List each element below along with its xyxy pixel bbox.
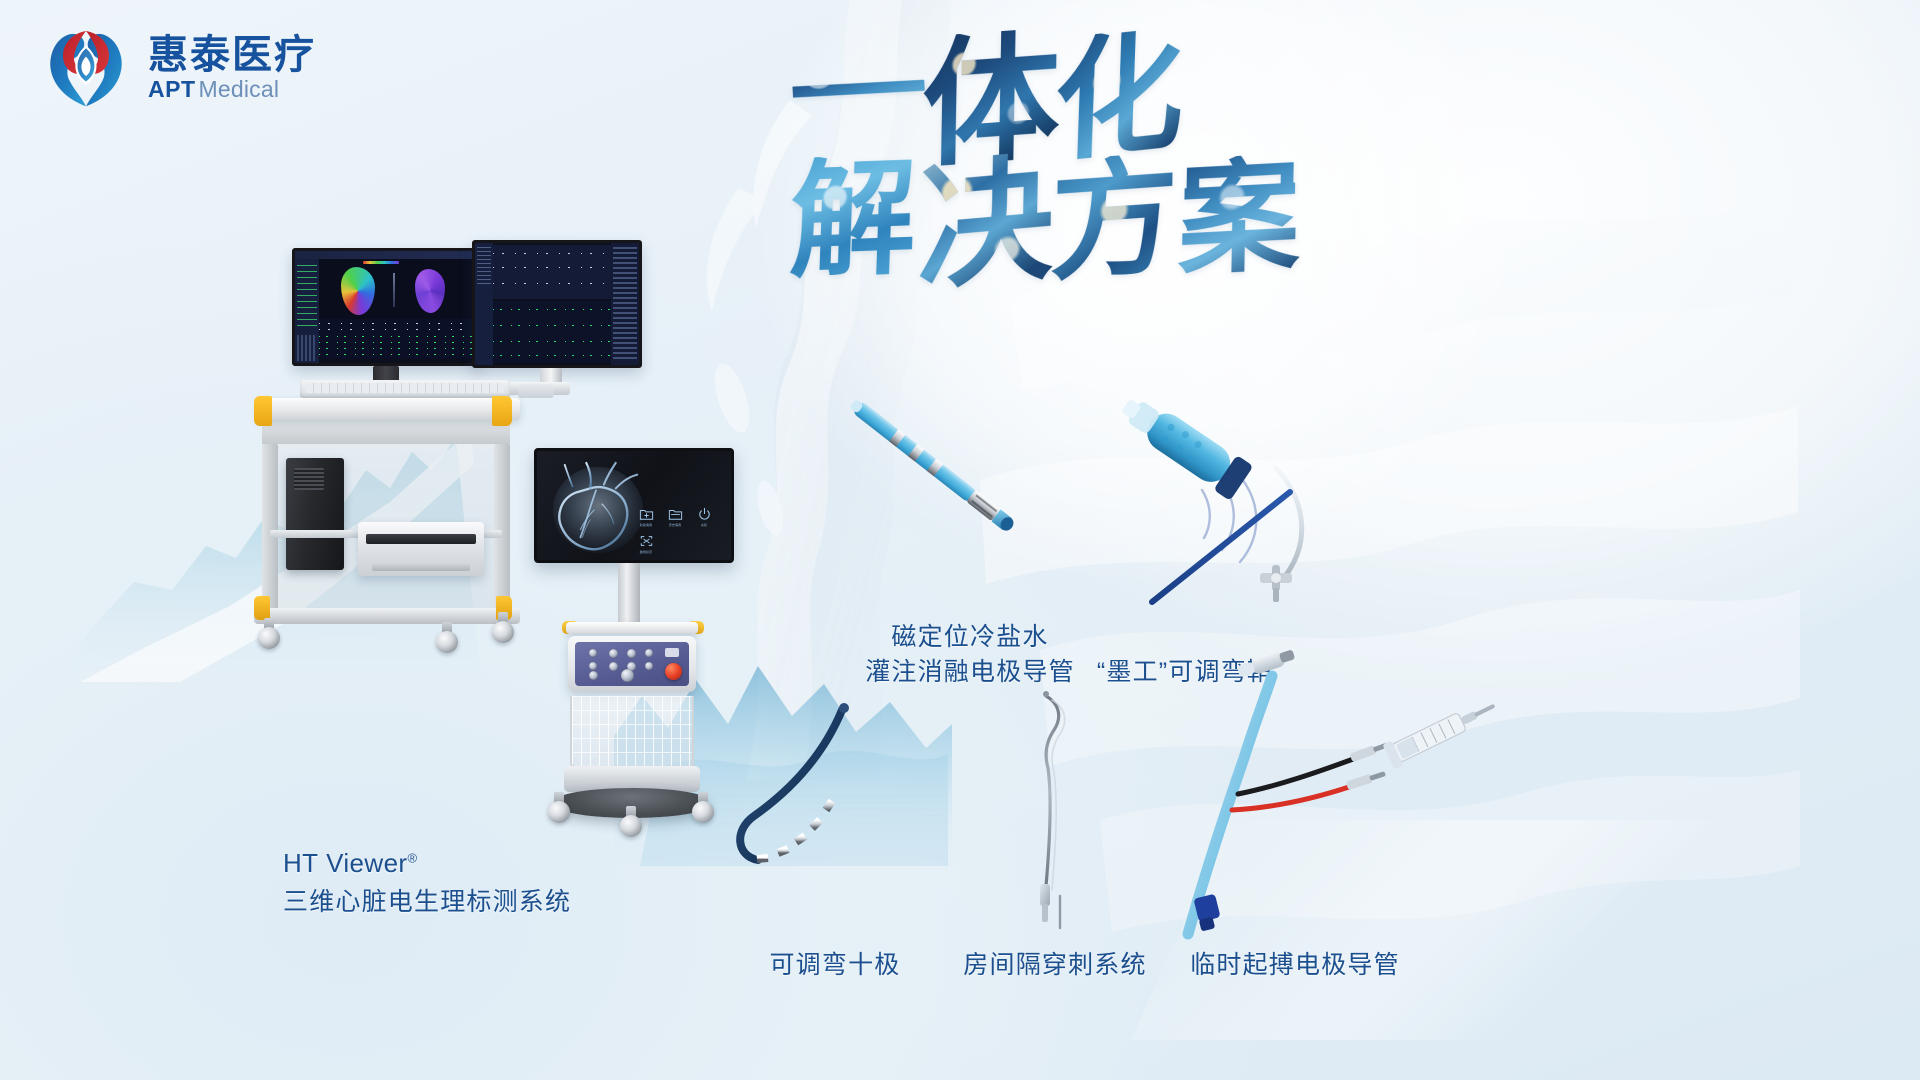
- display-cart-icon-row: 新建病例 历史病例 关机: [637, 507, 715, 554]
- pc-tower: [286, 458, 344, 570]
- irrigated-ablation-catheter-art: [820, 360, 1080, 610]
- calibration-caption: 磁场标定: [640, 550, 652, 554]
- headline-glyph-fang: 方: [1049, 151, 1179, 296]
- brand-name-en: APT Medical: [148, 78, 316, 101]
- display-cart-column: [618, 563, 640, 623]
- mapping-left-bars: [297, 335, 317, 361]
- headline-glyph-an: 案: [1177, 153, 1301, 296]
- cart1-column: [262, 420, 510, 444]
- new-case-glyph: [639, 507, 654, 521]
- display-cart-tray: [566, 622, 698, 634]
- panel-indicator: [665, 648, 679, 657]
- caster-wheel: [258, 618, 280, 648]
- caster-wheel: [548, 792, 570, 822]
- case-folder-caption: 历史病例: [669, 523, 681, 527]
- mapping-monitor: [292, 248, 482, 366]
- storage-basket: [570, 696, 694, 768]
- ecg-lower-traces: [493, 301, 611, 363]
- connector-port[interactable]: [645, 649, 653, 657]
- control-panel: [568, 636, 696, 692]
- connector-port[interactable]: [645, 662, 653, 670]
- mapping-left-traces: [297, 265, 317, 331]
- cart1-yellow-bumper-right: [492, 396, 512, 426]
- main-connector-port[interactable]: [621, 669, 634, 682]
- power-glyph: [697, 507, 712, 521]
- caster-wheel: [692, 792, 714, 822]
- calibration-glyph: [639, 534, 654, 548]
- new-case-caption: 新建病例: [640, 523, 652, 527]
- printer: [358, 522, 484, 576]
- ecg-upper-traces: [493, 245, 611, 299]
- pacing-catheter-label: 临时起搏电极导管: [1180, 948, 1410, 983]
- keyboard[interactable]: [300, 380, 510, 398]
- ecg-monitor-screen: [475, 243, 639, 365]
- headline-glyph-jie: 解: [788, 154, 919, 295]
- caster-wheel: [436, 622, 458, 652]
- mapping-colorbar: [363, 261, 399, 264]
- irrigated-ablation-catheter-label: 磁定位冷盐水灌注消融电极导管: [845, 620, 1095, 689]
- case-folder-glyph: [668, 507, 683, 521]
- case-folder-icon[interactable]: 历史病例: [666, 507, 684, 527]
- control-panel-face: [575, 642, 689, 686]
- mapping-3d-area: [319, 259, 479, 319]
- heart-display-monitor: 新建病例 历史病例 关机: [534, 448, 734, 563]
- mapping-toolbar: [295, 251, 479, 259]
- cart1-desk: [258, 398, 520, 420]
- headline-line-2: 解 决 方 案: [790, 156, 1300, 292]
- ecg-right-list: [613, 247, 637, 361]
- steerable-sheath-svg: [1130, 420, 1430, 650]
- cart1-yellow-foot-left: [254, 596, 270, 620]
- mouse[interactable]: [518, 384, 554, 398]
- brand-medical-text: Medical: [199, 78, 280, 101]
- apt-medical-logo-icon: [40, 18, 132, 110]
- emergency-button[interactable]: [665, 663, 682, 680]
- connector-port[interactable]: [609, 662, 618, 671]
- ecg-monitor: [472, 240, 642, 368]
- calibration-icon[interactable]: 磁场标定: [637, 534, 655, 554]
- decapolar-catheter-art: [730, 700, 950, 950]
- pacing-catheter-svg: [1160, 660, 1500, 950]
- power-caption: 关机: [701, 523, 707, 527]
- headline-calligraphy: 一 体 化 解 决 方 案: [790, 28, 1550, 328]
- decapolar-catheter-label: 可调弯十极: [745, 948, 925, 983]
- transseptal-system-label: 房间隔穿刺系统: [955, 948, 1155, 983]
- trademark-symbol: ®: [408, 850, 418, 865]
- brand-apt-text: APT: [148, 78, 196, 101]
- mapping-ecg-band: [319, 319, 479, 359]
- brand-name-cn: 惠泰医疗: [148, 34, 316, 76]
- cart1-yellow-bumper-left: [254, 396, 272, 426]
- cart1-base: [254, 608, 520, 624]
- caster-wheel: [620, 806, 642, 836]
- workstation-label-cn: 三维心脏电生理标测系统: [283, 885, 571, 921]
- mapping-catheter-icon: [393, 273, 395, 307]
- mapping-mesh-right: [415, 269, 445, 313]
- connector-port[interactable]: [589, 649, 597, 657]
- irrigated-label-l1: 磁定位冷盐水: [891, 623, 1048, 651]
- ground-port[interactable]: [589, 671, 598, 680]
- pacing-catheter-art: [1160, 660, 1500, 950]
- steerable-sheath-art: [1130, 420, 1430, 650]
- headline-glyph-jue: 决: [917, 150, 1055, 299]
- transseptal-system-art: [960, 690, 1140, 950]
- ecg-channel-list: [477, 247, 491, 287]
- mapping-mesh-left: [341, 267, 375, 315]
- irrigated-label-l2: 灌注消融电极导管: [865, 658, 1075, 686]
- connector-port[interactable]: [589, 662, 597, 670]
- transseptal-svg: [960, 690, 1140, 950]
- connector-port[interactable]: [627, 649, 636, 658]
- power-icon[interactable]: 关机: [695, 507, 713, 527]
- mapping-monitor-screen: [295, 251, 479, 363]
- brand-logo: 惠泰医疗 APT Medical: [40, 18, 316, 110]
- brand-wordmark: 惠泰医疗 APT Medical: [148, 28, 316, 101]
- connector-port[interactable]: [609, 649, 618, 658]
- decapolar-catheter-svg: [730, 700, 950, 950]
- poster-canvas: 惠泰医疗 APT Medical 一 体 化 解 决 方 案: [0, 0, 1920, 1080]
- new-case-icon[interactable]: 新建病例: [637, 507, 655, 527]
- ablation-catheter-svg: [820, 360, 1080, 610]
- caster-wheel: [492, 612, 514, 642]
